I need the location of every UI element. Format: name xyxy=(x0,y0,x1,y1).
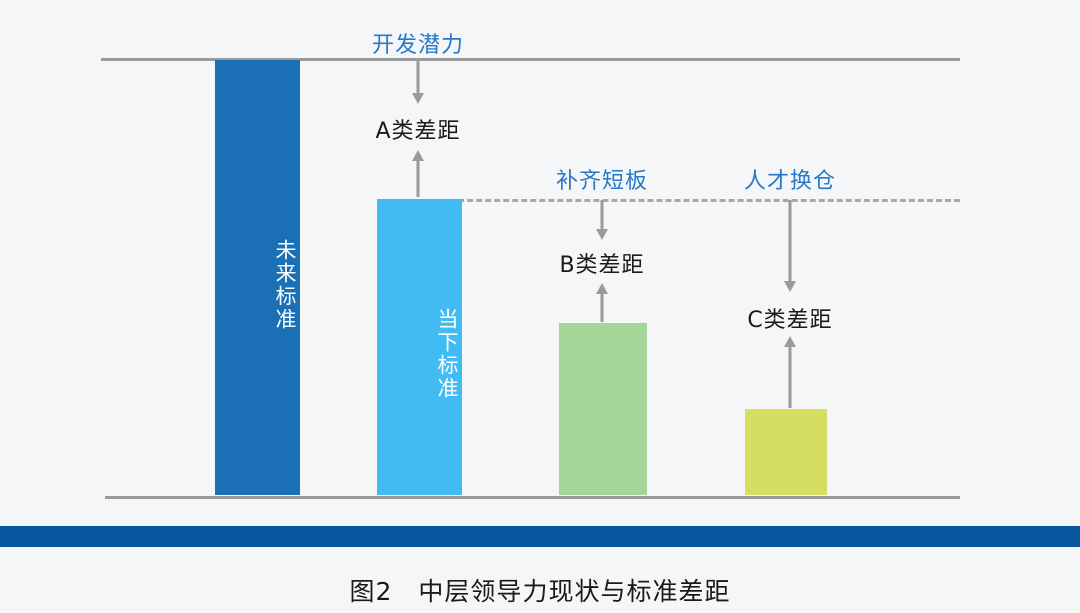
annotation-b-arrows xyxy=(587,194,617,328)
footer-accent-bar xyxy=(0,526,1080,547)
figure-caption: 图2 中层领导力现状与标准差距 xyxy=(0,572,1080,608)
bar-current-standard-label: 当下标准 xyxy=(377,199,462,495)
bar-current-standard: 当下标准 xyxy=(377,199,462,495)
bar-b-level xyxy=(559,323,647,495)
current-standard-dashed-line xyxy=(377,199,960,202)
annotation-c-title: 人才换仓 xyxy=(744,163,836,195)
bar-future-standard: 未来标准 xyxy=(215,60,300,495)
figure-canvas: 未来标准 当下标准 开发潜力 A类差距 补齐短板 B类差距 人才换仓 C类差距 … xyxy=(0,0,1080,613)
annotation-a-arrows xyxy=(403,54,433,203)
annotation-b-title: 补齐短板 xyxy=(556,163,648,195)
bar-c-level xyxy=(745,409,827,495)
baseline xyxy=(105,496,960,499)
annotation-c-arrows xyxy=(775,194,805,414)
bar-future-standard-label: 未来标准 xyxy=(215,60,300,495)
